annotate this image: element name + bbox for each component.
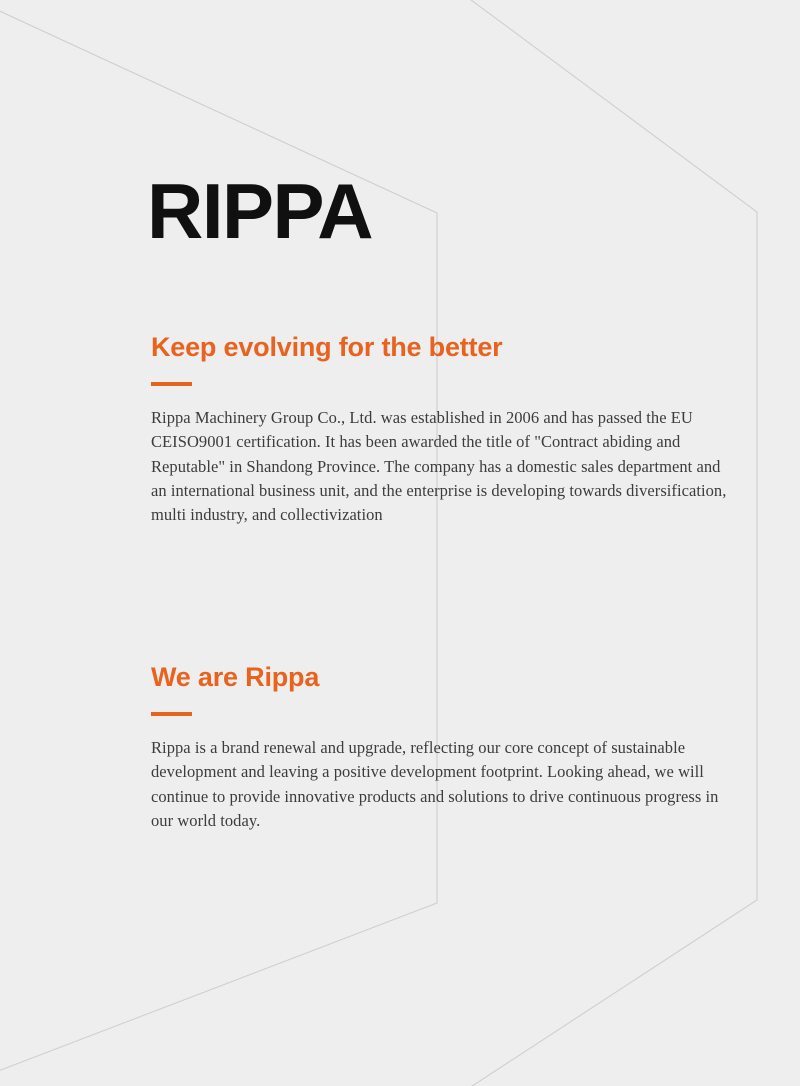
section-we-are-rippa: We are Rippa Rippa is a brand renewal an… [151,661,751,833]
section-keep-evolving: Keep evolving for the better Rippa Machi… [151,331,751,527]
brand-page: RIPPA Keep evolving for the better Rippa… [0,0,800,1086]
section-rule-we-are-rippa [151,712,192,716]
section-body-we-are-rippa: Rippa is a brand renewal and upgrade, re… [151,736,736,833]
section-rule-keep-evolving [151,382,192,386]
section-body-keep-evolving: Rippa Machinery Group Co., Ltd. was esta… [151,406,736,527]
brand-logo: RIPPA [147,166,372,256]
section-heading-keep-evolving: Keep evolving for the better [151,331,751,363]
page-content: RIPPA Keep evolving for the better Rippa… [0,0,800,1086]
section-heading-we-are-rippa: We are Rippa [151,661,751,693]
